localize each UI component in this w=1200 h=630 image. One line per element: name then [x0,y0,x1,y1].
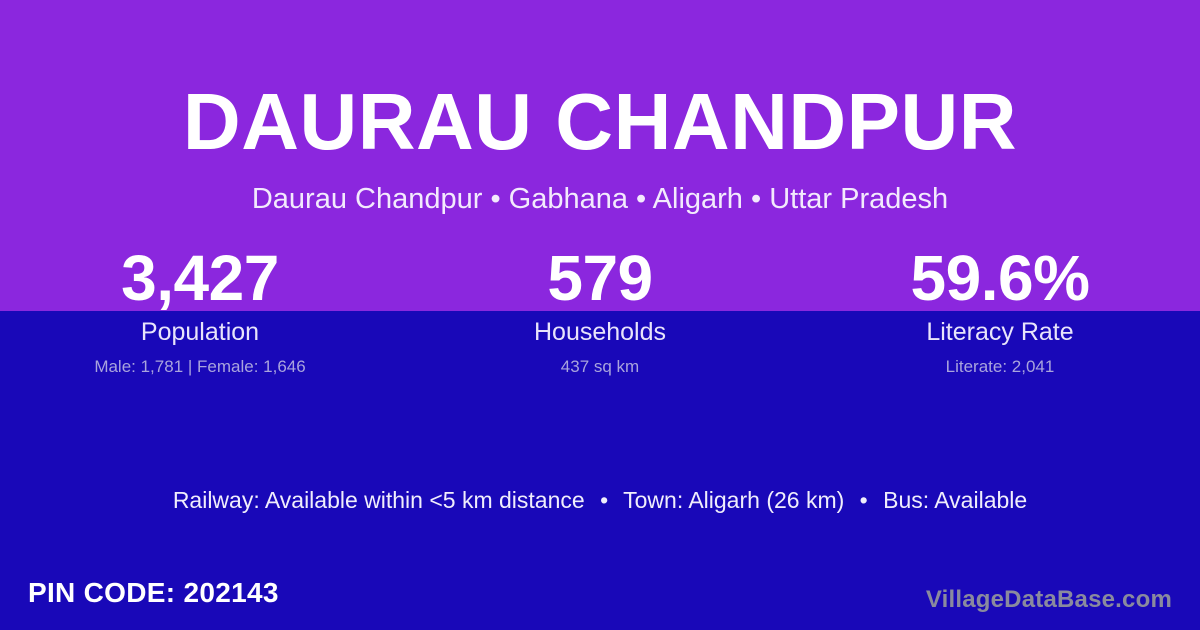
stat-detail-households: 437 sq km [400,357,800,377]
stat-value-literacy-rate: 59.6% [800,246,1200,311]
stat-card-households: 579 Households 437 sq km [400,246,800,378]
stat-detail-literacy-rate: Literate: 2,041 [800,357,1200,377]
stats-row: 3,427 Population Male: 1,781 | Female: 1… [0,246,1200,378]
site-watermark: VillageDataBase.com [926,586,1172,615]
card-content: DAURAU CHANDPUR Daurau Chandpur • Gabhan… [0,0,1200,630]
infra-bus: Bus: Available [883,487,1027,513]
bullet-separator-icon: • [851,486,877,516]
stat-label-population: Population [0,317,400,347]
page-title: DAURAU CHANDPUR [0,82,1200,162]
infra-town: Town: Aligarh (26 km) [623,487,844,513]
stat-card-population: 3,427 Population Male: 1,781 | Female: 1… [0,246,400,378]
stat-value-households: 579 [400,246,800,311]
stat-value-population: 3,427 [0,246,400,311]
infra-railway: Railway: Available within <5 km distance [173,487,585,513]
bullet-separator-icon: • [591,486,617,516]
stat-label-households: Households [400,317,800,347]
breadcrumb: Daurau Chandpur • Gabhana • Aligarh • Ut… [0,182,1200,217]
infrastructure-line: Railway: Available within <5 km distance… [0,486,1200,516]
stat-card-literacy-rate: 59.6% Literacy Rate Literate: 2,041 [800,246,1200,378]
pin-code-label: PIN CODE: 202143 [28,576,279,610]
stat-detail-population: Male: 1,781 | Female: 1,646 [0,357,400,377]
stat-label-literacy-rate: Literacy Rate [800,317,1200,347]
